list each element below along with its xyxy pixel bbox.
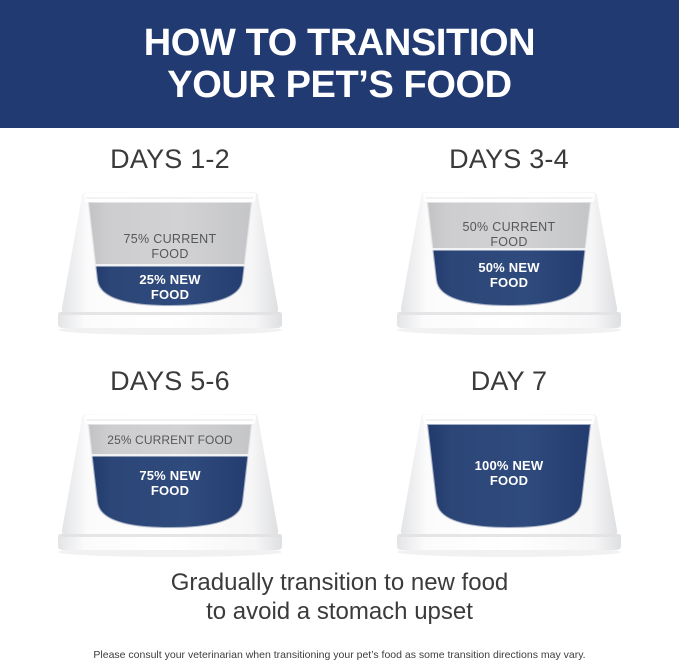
current-food-label-line-2: FOOD <box>86 247 254 262</box>
current-food-label-line-1: 50% CURRENT <box>425 220 593 235</box>
food-bowl: 75% CURRENT FOOD 25% NEW FOOD <box>50 184 290 336</box>
footer-headline-line-1: Gradually transition to new food <box>0 568 679 597</box>
header-title-line-1: HOW TO TRANSITION <box>144 22 535 64</box>
new-food-label: 75% NEW FOOD <box>80 468 260 498</box>
new-food-label-line-2: FOOD <box>419 275 599 290</box>
header-title-line-2: YOUR PET’S FOOD <box>167 64 511 106</box>
header-banner: HOW TO TRANSITION YOUR PET’S FOOD <box>0 0 679 128</box>
new-food-label: 100% NEW FOOD <box>419 458 599 488</box>
current-food-label: 25% CURRENT FOOD <box>68 433 272 448</box>
current-food-label: 75% CURRENT FOOD <box>86 232 254 262</box>
new-food-label-line-2: FOOD <box>80 483 260 498</box>
new-food-label-line-1: 75% NEW <box>80 468 260 483</box>
footer: Gradually transition to new food to avoi… <box>0 568 679 662</box>
food-bowl: 25% CURRENT FOOD 75% NEW FOOD <box>50 406 290 558</box>
new-food-label-line-1: 100% NEW <box>419 458 599 473</box>
bowl-panel-days-3-4: DAYS 3-4 <box>339 128 679 348</box>
footer-headline-line-2: to avoid a stomach upset <box>0 597 679 626</box>
new-food-label: 50% NEW FOOD <box>419 260 599 290</box>
food-bowl: 100% NEW FOOD <box>389 406 629 558</box>
current-food-label-line-1: 75% CURRENT <box>86 232 254 247</box>
new-food-label-line-1: 25% NEW <box>80 272 260 287</box>
new-food-label-line-2: FOOD <box>419 473 599 488</box>
new-food-label: 25% NEW FOOD <box>80 272 260 302</box>
new-food-label-line-1: 50% NEW <box>419 260 599 275</box>
bowl-panel-days-5-6: DAYS 5-6 <box>0 350 340 570</box>
footer-disclaimer: Please consult your veterinarian when tr… <box>0 648 679 662</box>
panel-title: DAYS 3-4 <box>339 144 679 175</box>
bowl-panel-grid: DAYS 1-2 <box>0 128 679 568</box>
panel-title: DAYS 1-2 <box>0 144 340 175</box>
current-food-label-line-2: FOOD <box>425 235 593 250</box>
bowl-panel-day-7: DAY 7 <box>339 350 679 570</box>
food-bowl: 50% CURRENT FOOD 50% NEW FOOD <box>389 184 629 336</box>
current-food-label: 50% CURRENT FOOD <box>425 220 593 250</box>
current-food-label-line-1: 25% CURRENT FOOD <box>68 433 272 448</box>
new-food-label-line-2: FOOD <box>80 287 260 302</box>
bowl-panel-days-1-2: DAYS 1-2 <box>0 128 340 348</box>
panel-title: DAY 7 <box>339 366 679 397</box>
panel-title: DAYS 5-6 <box>0 366 340 397</box>
